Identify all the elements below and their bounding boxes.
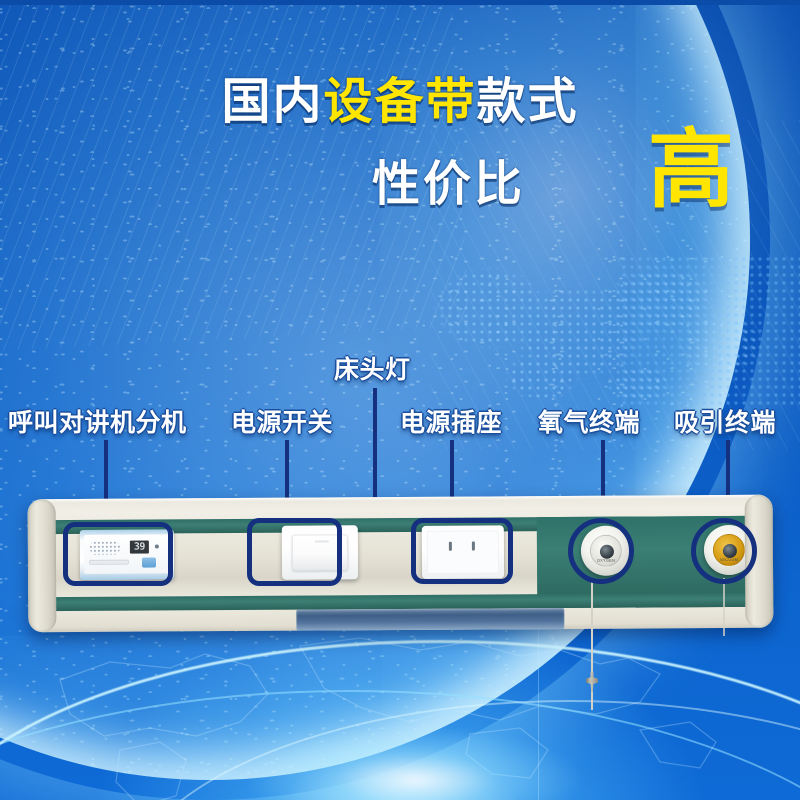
bottom-horizon-glow [180, 690, 650, 800]
halftone-dot-field [620, 255, 800, 405]
highlight-box-intercom [63, 522, 173, 586]
headline-line-2: 性价比 [372, 161, 525, 209]
headline-text-white-2: 款式 [477, 75, 579, 129]
suction-hose [723, 578, 725, 636]
callout-label-oxygen: 氧气终端 [538, 411, 640, 436]
top-edge-bar [0, 0, 800, 5]
headline-block: 国内设备带款式 性价比 高 [0, 78, 800, 231]
headline-line-1: 国内设备带款式 [0, 78, 800, 127]
highlight-box-power-switch [247, 518, 342, 586]
headline-emphasis: 高 [648, 127, 734, 213]
banner-canvas: 国内设备带款式 性价比 高 呼叫对讲机分机 电源开关 床头灯 电源插座 氧气终端… [0, 0, 800, 800]
callout-label-bedside-lamp: 床头灯 [334, 358, 411, 383]
callout-label-suction: 吸引终端 [674, 411, 776, 436]
headline-line-2-wrap: 性价比 高 [0, 153, 800, 231]
callout-label-power-socket: 电源插座 [400, 411, 502, 436]
callout-label-power-switch: 电源开关 [231, 411, 333, 436]
callout-label-intercom: 呼叫对讲机分机 [8, 411, 187, 436]
headline-text-white-1: 国内 [221, 75, 323, 129]
end-cap-left [28, 499, 57, 632]
highlight-circle-suction [691, 518, 757, 584]
highlight-circle-oxygen [568, 518, 634, 584]
highlight-box-power-socket [411, 518, 513, 584]
bedside-lamp-light-strip [296, 608, 564, 631]
headline-text-yellow: 设备带 [323, 75, 476, 129]
